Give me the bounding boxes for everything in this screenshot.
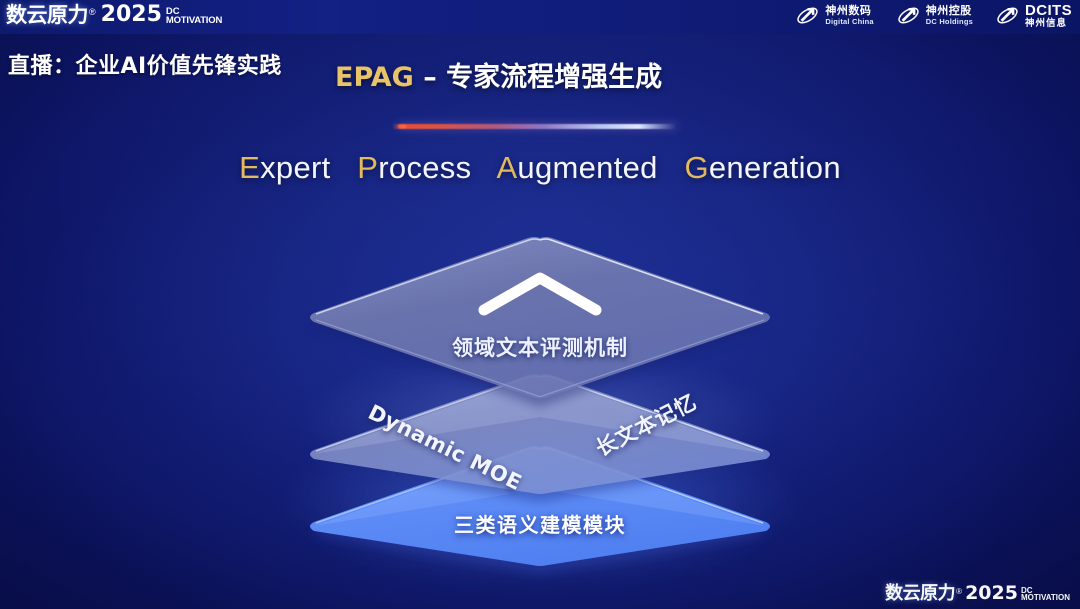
subtitle-expanded-acronym: Expert Process Augmented Generation: [0, 150, 1080, 186]
logo-dc-holdings-text: 神州控股 DC Holdings: [926, 6, 973, 25]
logo-dc-holdings-en: DC Holdings: [926, 18, 973, 26]
gradient-divider: [398, 124, 678, 129]
subtitle-space-3: [667, 150, 676, 185]
watermark-name-cn: 数云原力: [885, 585, 955, 603]
logo-dcits-cn: 神州信息: [1025, 19, 1072, 29]
subtitle-initial-g: G: [684, 150, 708, 185]
subtitle-word-expert: Expert: [239, 150, 330, 185]
logo-dc-holdings: 神州控股 DC Holdings: [896, 3, 973, 28]
stack-layer-top: [310, 237, 770, 407]
slide-canvas: 数云原力 ® 2025 DC MOTIVATION 神州数码 Digital C…: [0, 0, 1080, 609]
watermark-registered-mark: ®: [956, 588, 962, 596]
watermark-year: 2025: [965, 584, 1018, 603]
watermark-dc-motivation: DC MOTIVATION: [1021, 587, 1070, 602]
logo-digital-china: 神州数码 Digital China: [795, 3, 873, 28]
subtitle-rest-generation: eneration: [709, 150, 841, 185]
stack-label-middle-right: 长文本记忆: [590, 386, 702, 463]
digital-china-swoosh-icon: [795, 3, 820, 28]
logo-dcits: DCITS 神州信息: [995, 3, 1072, 29]
subtitle-rest-process: rocess: [378, 150, 471, 185]
logo-dcits-name: DCITS: [1025, 3, 1072, 19]
subtitle-word-augmented: Augmented: [496, 150, 657, 185]
stack-layer-middle: [310, 374, 770, 502]
subtitle-word-process: Process: [357, 150, 471, 185]
chevron-up-icon: [478, 270, 602, 316]
page-title: EPAG – 专家流程增强生成: [335, 55, 662, 94]
top-bar: 数云原力 ® 2025 DC MOTIVATION 神州数码 Digital C…: [0, 0, 1080, 34]
dc-holdings-swoosh-icon: [896, 3, 921, 28]
subtitle-space-2: [480, 150, 489, 185]
logo-digital-china-cn: 神州数码: [825, 6, 873, 18]
brand-motivation: MOTIVATION: [166, 16, 222, 25]
stack-label-top: 领域文本评测机制: [0, 332, 1080, 362]
subtitle-space-1: [339, 150, 348, 185]
brand-logo: 数云原力 ® 2025 DC MOTIVATION: [6, 4, 222, 26]
subtitle-word-generation: Generation: [684, 150, 840, 185]
subtitle-initial-p: P: [357, 150, 378, 185]
logo-dcits-text: DCITS 神州信息: [1025, 3, 1072, 29]
live-stream-label: 直播：企业AI价值先锋实践: [8, 48, 282, 80]
brand-registered-mark: ®: [89, 8, 96, 17]
subtitle-initial-a: A: [496, 150, 517, 185]
footer-watermark: 数云原力 ® 2025 DC MOTIVATION: [885, 584, 1070, 603]
page-title-rest: – 专家流程增强生成: [423, 62, 662, 93]
stack-label-bottom: 三类语义建模模块: [0, 509, 1080, 538]
subtitle-initial-e: E: [239, 150, 260, 185]
stack-label-middle-left: Dynamic MOE: [364, 400, 525, 495]
page-title-acronym: EPAG: [335, 62, 414, 93]
logo-digital-china-en: Digital China: [825, 18, 873, 26]
watermark-motivation: MOTIVATION: [1021, 594, 1070, 602]
brand-dc-motivation: DC MOTIVATION: [166, 7, 222, 25]
brand-name-cn: 数云原力: [6, 5, 88, 26]
logo-dc-holdings-cn: 神州控股: [926, 6, 973, 18]
brand-year: 2025: [101, 4, 162, 26]
partner-logo-group: 神州数码 Digital China 神州控股 DC Holdings: [795, 3, 1072, 29]
subtitle-rest-augmented: ugmented: [517, 150, 657, 185]
logo-digital-china-text: 神州数码 Digital China: [825, 6, 873, 25]
dcits-swoosh-icon: [995, 3, 1020, 28]
subtitle-rest-expert: xpert: [260, 150, 330, 185]
